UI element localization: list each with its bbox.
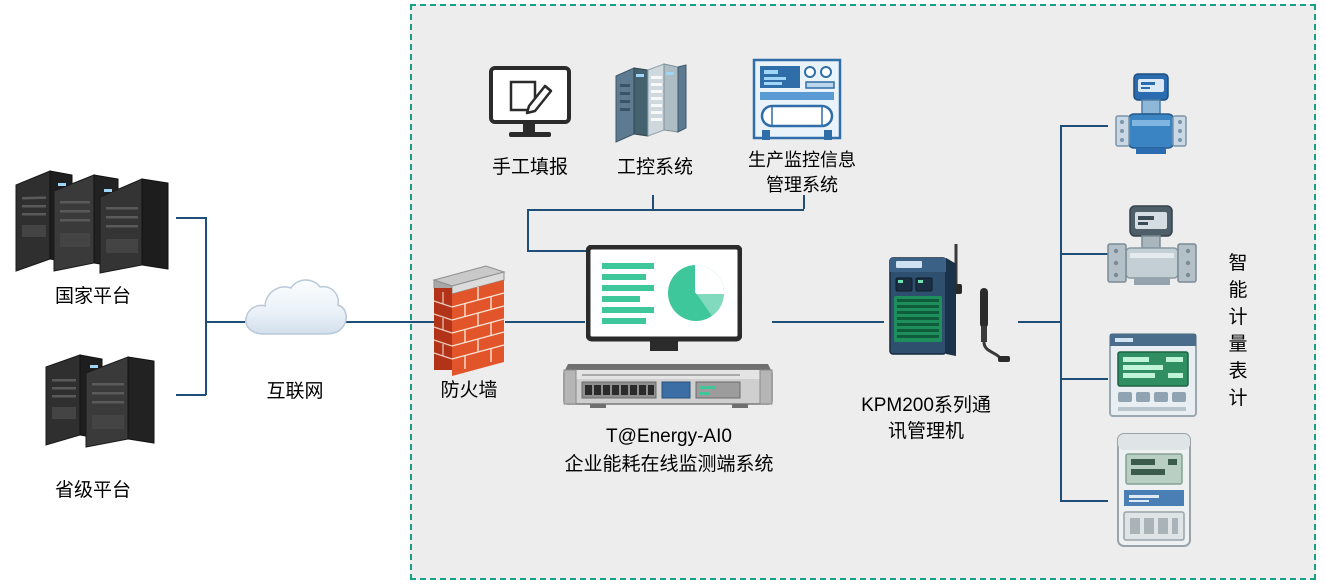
firewall-label: 防火墙 [393, 378, 545, 404]
connector-cloud-to-firewall [344, 321, 434, 323]
electromagnetic-flow-meter-icon [1106, 70, 1202, 166]
rack-server-1u-icon [560, 352, 776, 410]
industrial-control-label: 工控系统 [597, 155, 713, 181]
power-quality-analyzer-icon [1106, 330, 1200, 422]
aio-desc-label: 企业能耗在线监测端系统 [524, 452, 814, 478]
internet-label: 互联网 [215, 379, 375, 405]
plc-cabinet-icon [612, 62, 694, 144]
connector-gateway-to-meter-trunk [1018, 321, 1060, 323]
meter-electric-energy-icon[interactable] [1112, 432, 1196, 552]
national-platform-label: 国家平台 [13, 284, 173, 310]
connector-national-to-trunk [176, 217, 206, 219]
gateway-label: KPM200系列通 讯管理机 [838, 393, 1014, 445]
electric-energy-meter-icon [1112, 432, 1196, 552]
connector-trunk-to-meter-3 [1060, 378, 1108, 380]
manual-report-icon[interactable] [489, 66, 571, 142]
connector-trunk-to-meter-1 [1060, 125, 1108, 127]
meter-power-analyzer-icon[interactable] [1106, 330, 1200, 422]
manual-report-label: 手工填报 [472, 155, 588, 181]
production-machine-icon [748, 56, 852, 144]
connector-plc-down [652, 195, 654, 209]
diagram-canvas: 国家平台 省级平台 [0, 0, 1325, 587]
connector-sources-bus [527, 209, 804, 211]
gateway-icon[interactable] [884, 240, 1024, 370]
server-rack-icon [40, 347, 180, 451]
connector-bus-down-left [527, 209, 529, 251]
smart-meters-label: 智 能 计 量 表 计 [1216, 250, 1260, 412]
meter-electromagnetic-flow-icon[interactable] [1106, 70, 1202, 166]
aio-appliance-icon[interactable] [560, 352, 776, 410]
cloud-icon [239, 272, 351, 344]
aio-name-label: T@Energy-AI0 [566, 424, 772, 450]
monitor-pencil-icon [489, 66, 571, 142]
production-monitor-icon[interactable] [748, 56, 852, 144]
connector-platform-trunk [205, 217, 207, 395]
server-rack-icon [8, 163, 178, 275]
connector-meter-trunk [1060, 125, 1062, 500]
meter-turbine-flow-icon[interactable] [1100, 204, 1204, 298]
internet-icon[interactable] [239, 272, 351, 344]
brick-wall-icon [430, 262, 508, 382]
connector-aio-to-gateway [772, 321, 884, 323]
provincial-platform-icon[interactable] [40, 347, 180, 451]
national-platform-icon[interactable] [8, 163, 178, 275]
monitor-stand-neck [650, 337, 678, 351]
firewall-icon[interactable] [430, 262, 508, 382]
din-rail-gateway-icon [884, 240, 1024, 370]
connector-provincial-to-trunk [176, 394, 206, 396]
provincial-platform-label: 省级平台 [13, 478, 173, 504]
connector-firewall-to-aio [505, 321, 585, 323]
connector-trunk-to-meter-4 [1060, 500, 1108, 502]
connector-bus-to-aio [527, 250, 587, 252]
production-monitor-label: 生产监控信息 管理系统 [722, 148, 882, 198]
industrial-control-icon[interactable] [612, 62, 694, 144]
turbine-flow-meter-icon [1100, 204, 1204, 298]
